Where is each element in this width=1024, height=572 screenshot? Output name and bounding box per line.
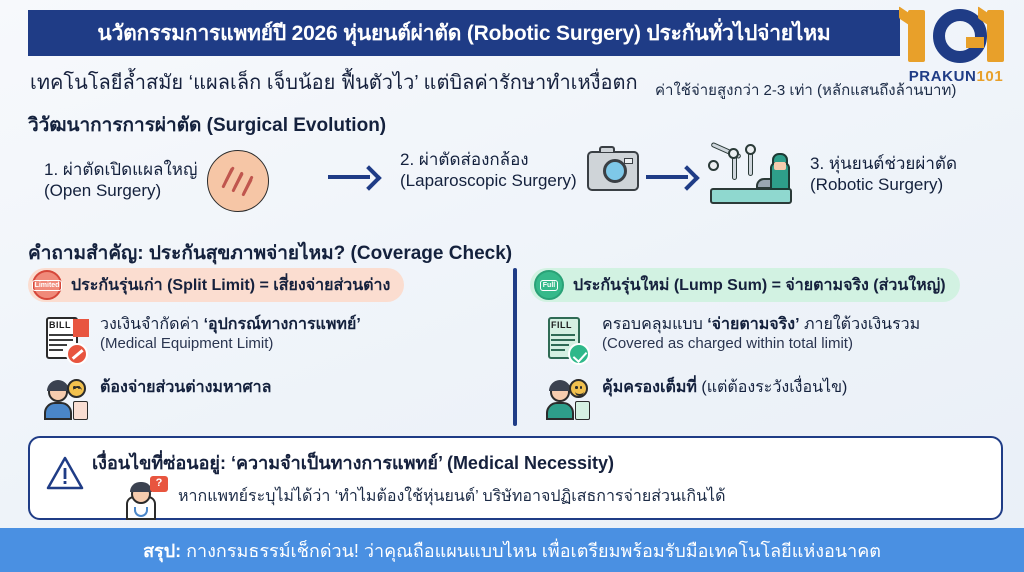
evolution-step-2-label: 2. ผ่าตัดส่องกล้อง (Laparoscopic Surgery… — [400, 150, 577, 191]
footer-label: สรุป: — [143, 541, 181, 561]
header-bar: นวัตกรรมการแพทย์ปี 2026 หุ่นยนต์ผ่าตัด (… — [28, 10, 900, 56]
left-item-1: BILL วงเงินจำกัดค่า ‘อุปกรณ์ทางการแพทย์’… — [28, 315, 498, 365]
left-item-2: ต้องจ่ายส่วนต่างมหาศาล — [28, 378, 498, 420]
robotic-surgery-icon — [708, 144, 800, 206]
right-item-2-text: คุ้มครองเต็มที่ (แต่ต้องระวังเงื่อนไข) — [602, 378, 847, 398]
bill-doc-label: BILL — [49, 320, 71, 330]
coverage-right-column: Full ประกันรุ่นใหม่ (Lump Sum) = จ่ายตาม… — [530, 268, 1000, 420]
footer-message: กางกรมธรรม์เช็กด่วน! ว่าคุณถือแผนแบบไหน … — [181, 541, 881, 561]
evolution-step-1: 1. ผ่าตัดเปิดแผลใหญ่ (Open Surgery) — [44, 150, 269, 212]
right-item-1: FILL ครอบคลุมแบบ ‘จ่ายตามจริง’ ภายใต้วงเ… — [530, 315, 1000, 365]
fill-doc-label: FILL — [551, 320, 572, 330]
evolution-step-2-th: 2. ผ่าตัดส่องกล้อง — [400, 150, 577, 171]
logo-mark-icon — [902, 6, 1010, 66]
coverage-left-column: Limited ประกันรุ่นเก่า (Split Limit) = เ… — [28, 268, 498, 420]
wound-circle-icon — [207, 150, 269, 212]
column-divider — [513, 268, 517, 426]
full-stamp-icon: Full — [534, 270, 564, 300]
split-limit-label: ประกันรุ่นเก่า (Split Limit) = เสี่ยงจ่า… — [71, 273, 390, 298]
evolution-heading: วิวัฒนาการการผ่าตัด (Surgical Evolution) — [28, 110, 386, 140]
limited-badge-label: Limited — [32, 280, 63, 291]
split-limit-pill: Limited ประกันรุ่นเก่า (Split Limit) = เ… — [28, 268, 404, 302]
left-item-1-text: วงเงินจำกัดค่า ‘อุปกรณ์ทางการแพทย์’ (Med… — [100, 315, 361, 354]
coverage-heading: คำถามสำคัญ: ประกันสุขภาพจ่ายไหม? (Covera… — [28, 238, 512, 268]
full-badge-label: Full — [540, 280, 558, 291]
evolution-step-3-th: 3. หุ่นยนต์ช่วยผ่าตัด — [810, 154, 957, 175]
happy-person-icon — [546, 378, 590, 420]
footer-text: สรุป: กางกรมธรรม์เช็กด่วน! ว่าคุณถือแผนแ… — [143, 536, 881, 565]
left-item-2-text: ต้องจ่ายส่วนต่างมหาศาล — [100, 378, 271, 398]
limited-stamp-icon: Limited — [32, 270, 62, 300]
lump-sum-pill: Full ประกันรุ่นใหม่ (Lump Sum) = จ่ายตาม… — [530, 268, 960, 302]
lump-sum-label: ประกันรุ่นใหม่ (Lump Sum) = จ่ายตามจริง … — [573, 273, 946, 298]
alert-body: หากแพทย์ระบุไม่ได้ว่า ‘ทำไมต้องใช้หุ่นยน… — [178, 484, 725, 509]
right-item-2: คุ้มครองเต็มที่ (แต่ต้องระวังเงื่อนไข) — [530, 378, 1000, 420]
footer-bar: สรุป: กางกรมธรรม์เช็กด่วน! ว่าคุณถือแผนแ… — [0, 528, 1024, 572]
left-item-2-bold: ต้องจ่ายส่วนต่างมหาศาล — [100, 379, 271, 396]
warning-triangle-icon — [46, 456, 84, 490]
right-item-1-bold: ‘จ่ายตามจริง’ — [707, 316, 799, 333]
question-bubble: ? — [150, 476, 168, 492]
evolution-step-1-en: (Open Surgery) — [44, 181, 197, 202]
evolution-step-1-th: 1. ผ่าตัดเปิดแผลใหญ่ — [44, 160, 197, 181]
evolution-step-1-label: 1. ผ่าตัดเปิดแผลใหญ่ (Open Surgery) — [44, 160, 197, 201]
evolution-step-2-en: (Laparoscopic Surgery) — [400, 171, 577, 192]
right-item-1-text: ครอบคลุมแบบ ‘จ่ายตามจริง’ ภายใต้วงเงินรว… — [602, 315, 920, 354]
evolution-step-2: 2. ผ่าตัดส่องกล้อง (Laparoscopic Surgery… — [400, 150, 639, 191]
medical-necessity-alert: เงื่อนไขที่ซ่อนอยู่: ‘ความจำเป็นทางการแพ… — [28, 436, 1003, 520]
evolution-cost-note: ค่าใช้จ่ายสูงกว่า 2-3 เท่า (หลักแสนถึงล้… — [655, 78, 956, 102]
left-item-1-en: (Medical Equipment Limit) — [100, 335, 361, 354]
arrow-right-icon-2 — [646, 166, 700, 186]
fill-approved-icon: FILL — [546, 315, 590, 365]
evolution-row: 1. ผ่าตัดเปิดแผลใหญ่ (Open Surgery) 2. ผ… — [28, 140, 1003, 230]
right-item-1-en: (Covered as charged within total limit) — [602, 335, 920, 354]
alert-title: เงื่อนไขที่ซ่อนอยู่: ‘ความจำเป็นทางการแพ… — [92, 448, 614, 477]
evolution-step-3-label: 3. หุ่นยนต์ช่วยผ่าตัด (Robotic Surgery) — [810, 154, 957, 195]
evolution-step-3-en: (Robotic Surgery) — [810, 175, 957, 196]
left-item-1-bold: ‘อุปกรณ์ทางการแพทย์’ — [204, 316, 361, 333]
camera-icon — [587, 151, 639, 191]
right-item-1-prefix: ครอบคลุมแบบ — [602, 316, 707, 333]
bill-denied-icon: BILL — [44, 315, 88, 365]
sad-person-icon — [44, 378, 88, 420]
arrow-right-icon-1 — [328, 166, 382, 186]
logo-wordmark-amber: 101 — [976, 68, 1003, 85]
page-title: นวัตกรรมการแพทย์ปี 2026 หุ่นยนต์ผ่าตัด (… — [97, 17, 830, 50]
left-item-1-prefix: วงเงินจำกัดค่า — [100, 316, 204, 333]
right-item-1-suffix: ภายใต้วงเงินรวม — [800, 316, 921, 333]
right-item-2-suffix: (แต่ต้องระวังเงื่อนไข) — [697, 379, 847, 396]
evolution-step-3: 3. หุ่นยนต์ช่วยผ่าตัด (Robotic Surgery) — [708, 144, 957, 206]
right-item-2-bold: คุ้มครองเต็มที่ — [602, 379, 697, 396]
doctor-question-icon: ? — [122, 476, 168, 520]
